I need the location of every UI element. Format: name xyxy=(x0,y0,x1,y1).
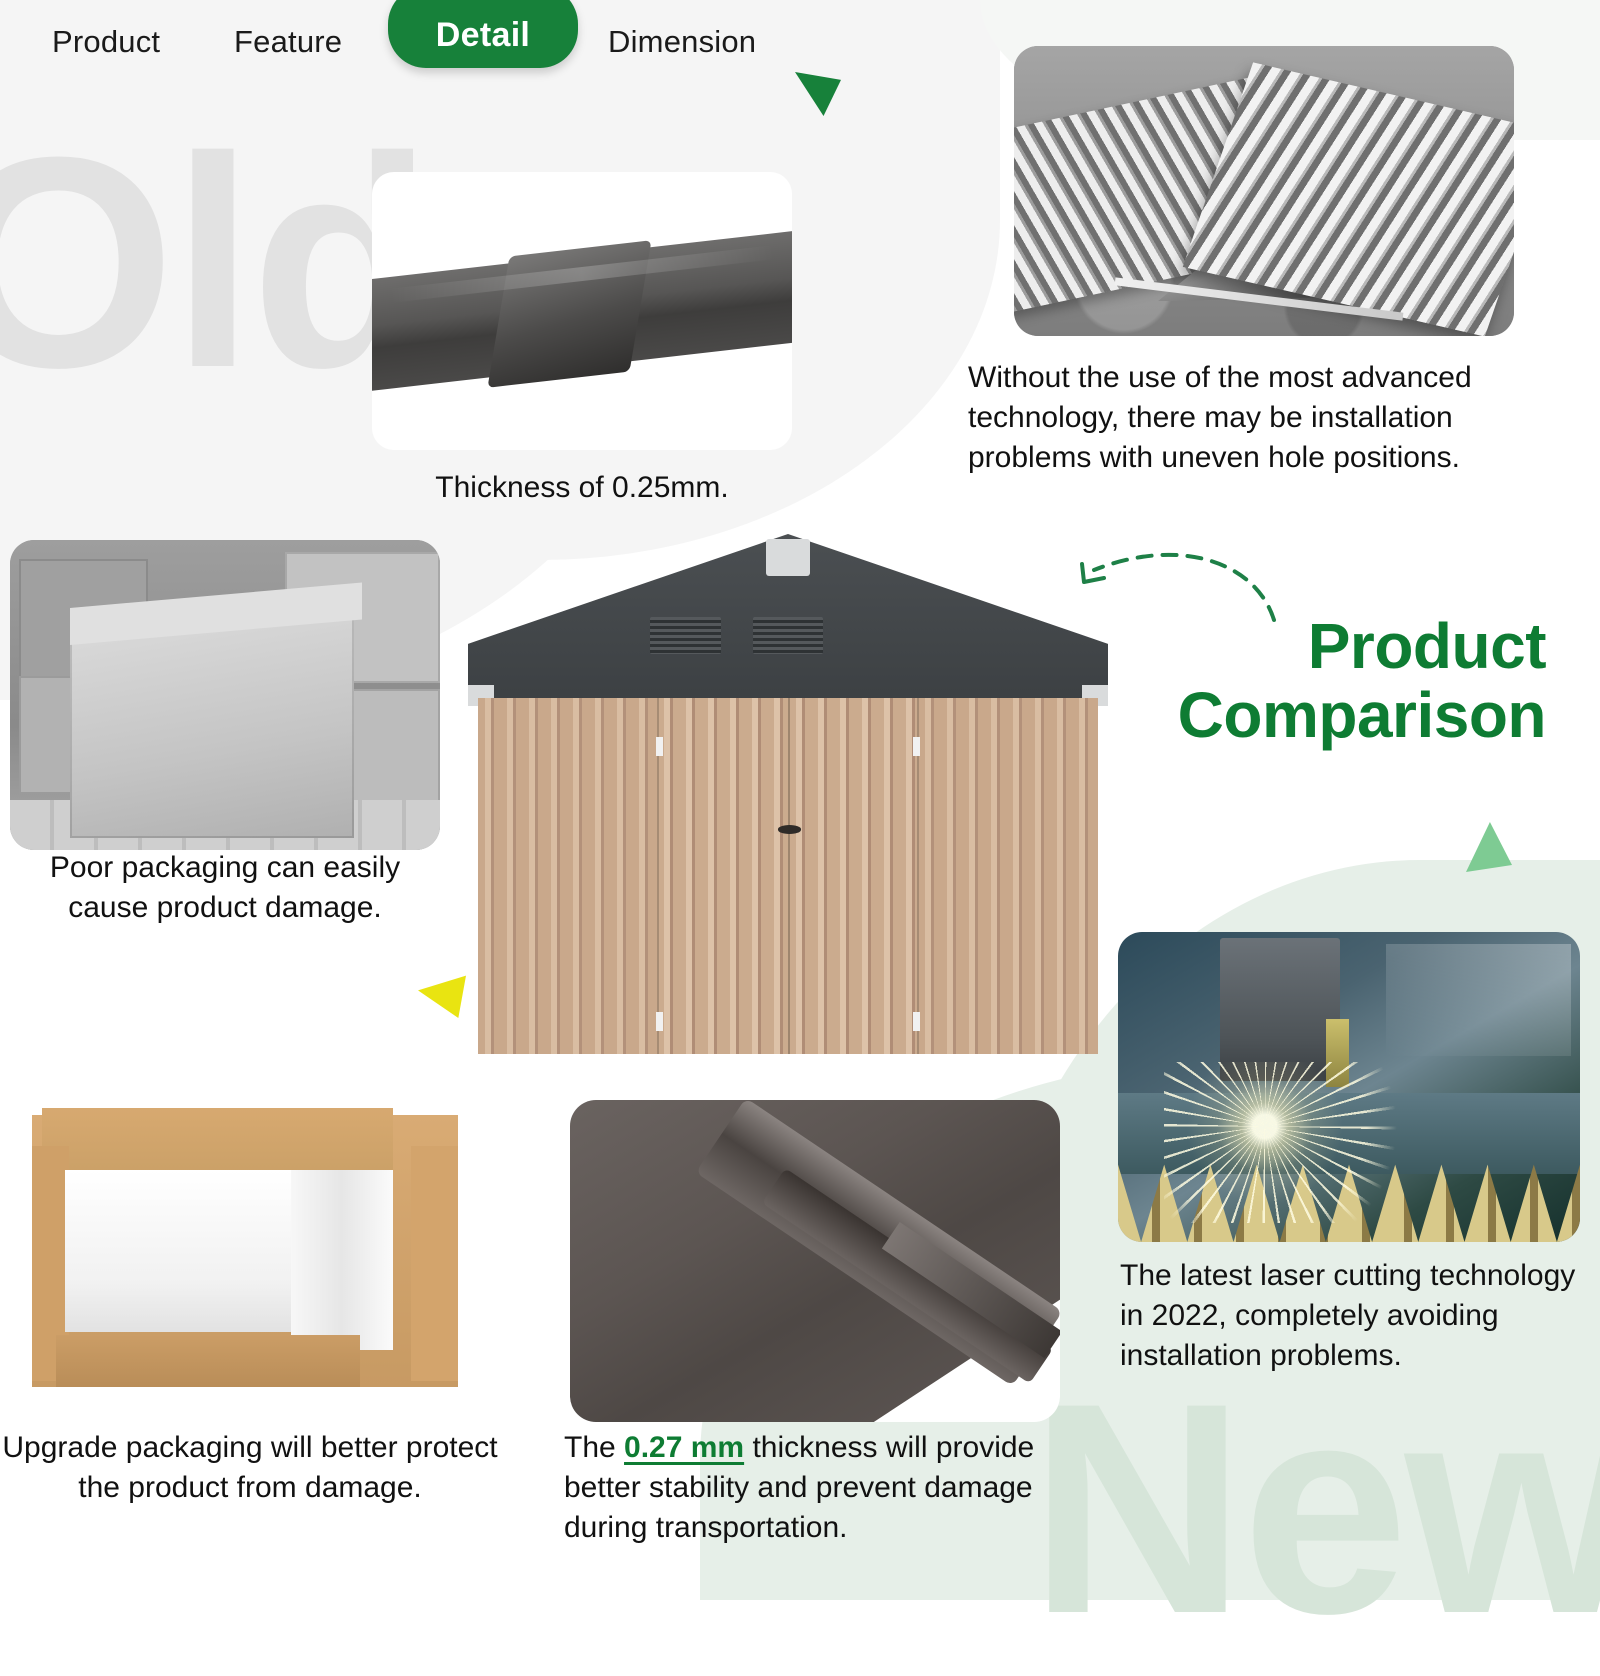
page-title: Product Comparison xyxy=(1026,612,1546,750)
thick-metal-panel-image xyxy=(570,1100,1060,1422)
collapsed-roof-image xyxy=(1014,46,1514,336)
page-title-line-1: Product xyxy=(1026,612,1546,681)
watermark-old: Old xyxy=(0,112,430,412)
caption-thick-metal-pre: The xyxy=(564,1431,624,1464)
sparks-burst xyxy=(1164,1062,1404,1223)
thin-metal-panel-image xyxy=(372,172,792,450)
metal-shed-image xyxy=(468,534,1108,1054)
shed-ridge-cap xyxy=(766,539,811,575)
infographic-canvas: Old New Product Feature Detail Dimension… xyxy=(0,0,1600,1600)
caption-upgraded-packaging: Upgrade packaging will better protect th… xyxy=(0,1428,500,1508)
foam-padding xyxy=(291,1170,393,1350)
damaged-boxes-image xyxy=(10,540,440,850)
tab-detail-label: Detail xyxy=(436,16,530,55)
tab-detail[interactable]: Detail xyxy=(388,0,578,68)
box-flap-top xyxy=(42,1108,393,1176)
laser-head xyxy=(1220,938,1340,1081)
shed-hinge-bottom-left xyxy=(656,1012,663,1031)
shed-vent-left xyxy=(650,617,720,653)
shed-vent-right xyxy=(753,617,823,653)
laser-cutting-image xyxy=(1118,932,1580,1242)
tab-feature[interactable]: Feature xyxy=(234,24,342,60)
light-green-triangle-icon xyxy=(1466,822,1512,872)
shed-door-seam xyxy=(788,698,790,1054)
shed-hinge-bottom-right xyxy=(913,1012,920,1031)
box-side-right xyxy=(411,1146,457,1382)
shed-hinge-top-right xyxy=(913,737,920,756)
light-reflection xyxy=(1386,944,1571,1056)
shed-door-handle xyxy=(778,825,801,833)
watermark-new: New xyxy=(1029,1358,1600,1658)
thickness-value-highlight: 0.27 mm xyxy=(624,1431,744,1464)
box-flap-bottom xyxy=(56,1335,361,1388)
upgraded-packaging-image xyxy=(14,1096,476,1406)
caption-damaged-boxes: Poor packaging can easily cause product … xyxy=(10,848,440,928)
damaged-box-front xyxy=(70,614,354,837)
caption-collapsed-roof: Without the use of the most advanced tec… xyxy=(968,358,1512,478)
tab-dimension[interactable]: Dimension xyxy=(608,24,756,60)
caption-thin-metal: Thickness of 0.25mm. xyxy=(372,468,792,508)
page-title-line-2: Comparison xyxy=(1026,681,1546,750)
yellow-triangle-icon xyxy=(418,972,466,1018)
nav-bar: Product Feature Detail Dimension xyxy=(0,0,820,92)
shed-hinge-top-left xyxy=(656,737,663,756)
caption-thick-metal: The 0.27 mm thickness will provide bette… xyxy=(564,1428,1070,1548)
caption-laser-cutting: The latest laser cutting technology in 2… xyxy=(1120,1256,1590,1376)
tab-product[interactable]: Product xyxy=(52,24,160,60)
